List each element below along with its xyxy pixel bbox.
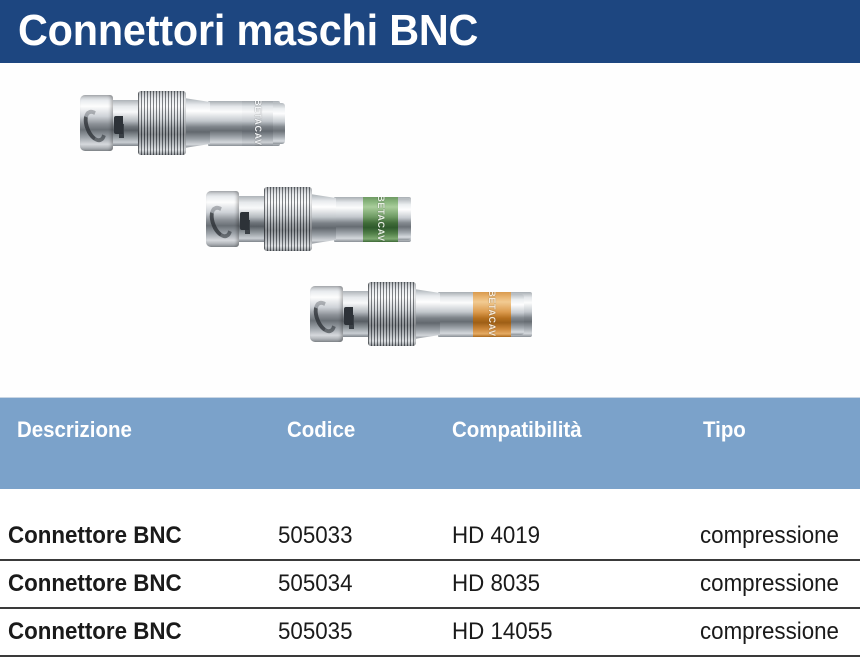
table-row[interactable]: Connettore BNC 505033 HD 4019 compressio… bbox=[0, 513, 860, 561]
connector-brand-band: BETACAVI bbox=[242, 101, 273, 146]
cell-compatibilita: HD 8035 bbox=[452, 570, 540, 598]
cell-descrizione: Connettore BNC bbox=[8, 618, 182, 646]
column-header-compatibilita: Compatibilità bbox=[452, 417, 582, 443]
product-image-gallery: BETACAVI BETACAVI BETACAVI bbox=[0, 63, 860, 397]
connector-brand-band: BETACAVI bbox=[363, 197, 398, 242]
connector-bayonet-ring bbox=[206, 191, 239, 247]
connector-brand-band: BETACAVI bbox=[473, 292, 511, 337]
cell-descrizione: Connettore BNC bbox=[8, 570, 182, 598]
connector-rear-ring bbox=[397, 199, 411, 240]
cell-descrizione: Connettore BNC bbox=[8, 522, 182, 550]
table-row[interactable]: Connettore BNC 505034 HD 8035 compressio… bbox=[0, 561, 860, 609]
cell-codice: 505035 bbox=[278, 618, 352, 646]
page-title: Connettori maschi BNC bbox=[18, 3, 478, 59]
cell-tipo: compressione bbox=[700, 570, 839, 598]
connector-bayonet-ring bbox=[310, 286, 343, 342]
table-header-row: Descrizione Codice Compatibilità Tipo bbox=[0, 397, 860, 489]
connector-bayonet-ring bbox=[80, 95, 113, 151]
connector-rear-ring bbox=[510, 294, 524, 335]
connector-rear-ring bbox=[271, 103, 285, 144]
connector-knurled-nut bbox=[368, 282, 416, 346]
cell-codice: 505033 bbox=[278, 522, 352, 550]
cell-tipo: compressione bbox=[700, 522, 839, 550]
product-image-connettore-bnc-argento: BETACAVI bbox=[80, 86, 280, 160]
connector-knurled-nut bbox=[264, 187, 312, 251]
brand-label: BETACAVI bbox=[487, 292, 497, 337]
table-row[interactable]: Connettore BNC 505035 HD 14055 compressi… bbox=[0, 609, 860, 657]
brand-label: BETACAVI bbox=[253, 101, 263, 146]
products-table: Descrizione Codice Compatibilità Tipo Co… bbox=[0, 397, 860, 657]
column-header-descrizione: Descrizione bbox=[17, 417, 132, 443]
page-header-bar: Connettori maschi BNC bbox=[0, 0, 860, 63]
connector-shoulder bbox=[184, 98, 210, 148]
table-spacer bbox=[0, 489, 860, 513]
cell-compatibilita: HD 4019 bbox=[452, 522, 540, 550]
brand-label: BETACAVI bbox=[376, 197, 386, 242]
cell-tipo: compressione bbox=[700, 618, 839, 646]
product-image-connettore-bnc-arancio: BETACAVI bbox=[310, 277, 532, 351]
cell-codice: 505034 bbox=[278, 570, 352, 598]
connector-knurled-nut bbox=[138, 91, 186, 155]
table-body: Connettore BNC 505033 HD 4019 compressio… bbox=[0, 489, 860, 657]
cell-compatibilita: HD 14055 bbox=[452, 618, 553, 646]
product-image-connettore-bnc-verde: BETACAVI bbox=[206, 182, 411, 256]
column-header-codice: Codice bbox=[287, 417, 355, 443]
connector-shoulder bbox=[310, 194, 336, 244]
column-header-tipo: Tipo bbox=[703, 417, 746, 443]
connector-shoulder bbox=[414, 289, 440, 339]
